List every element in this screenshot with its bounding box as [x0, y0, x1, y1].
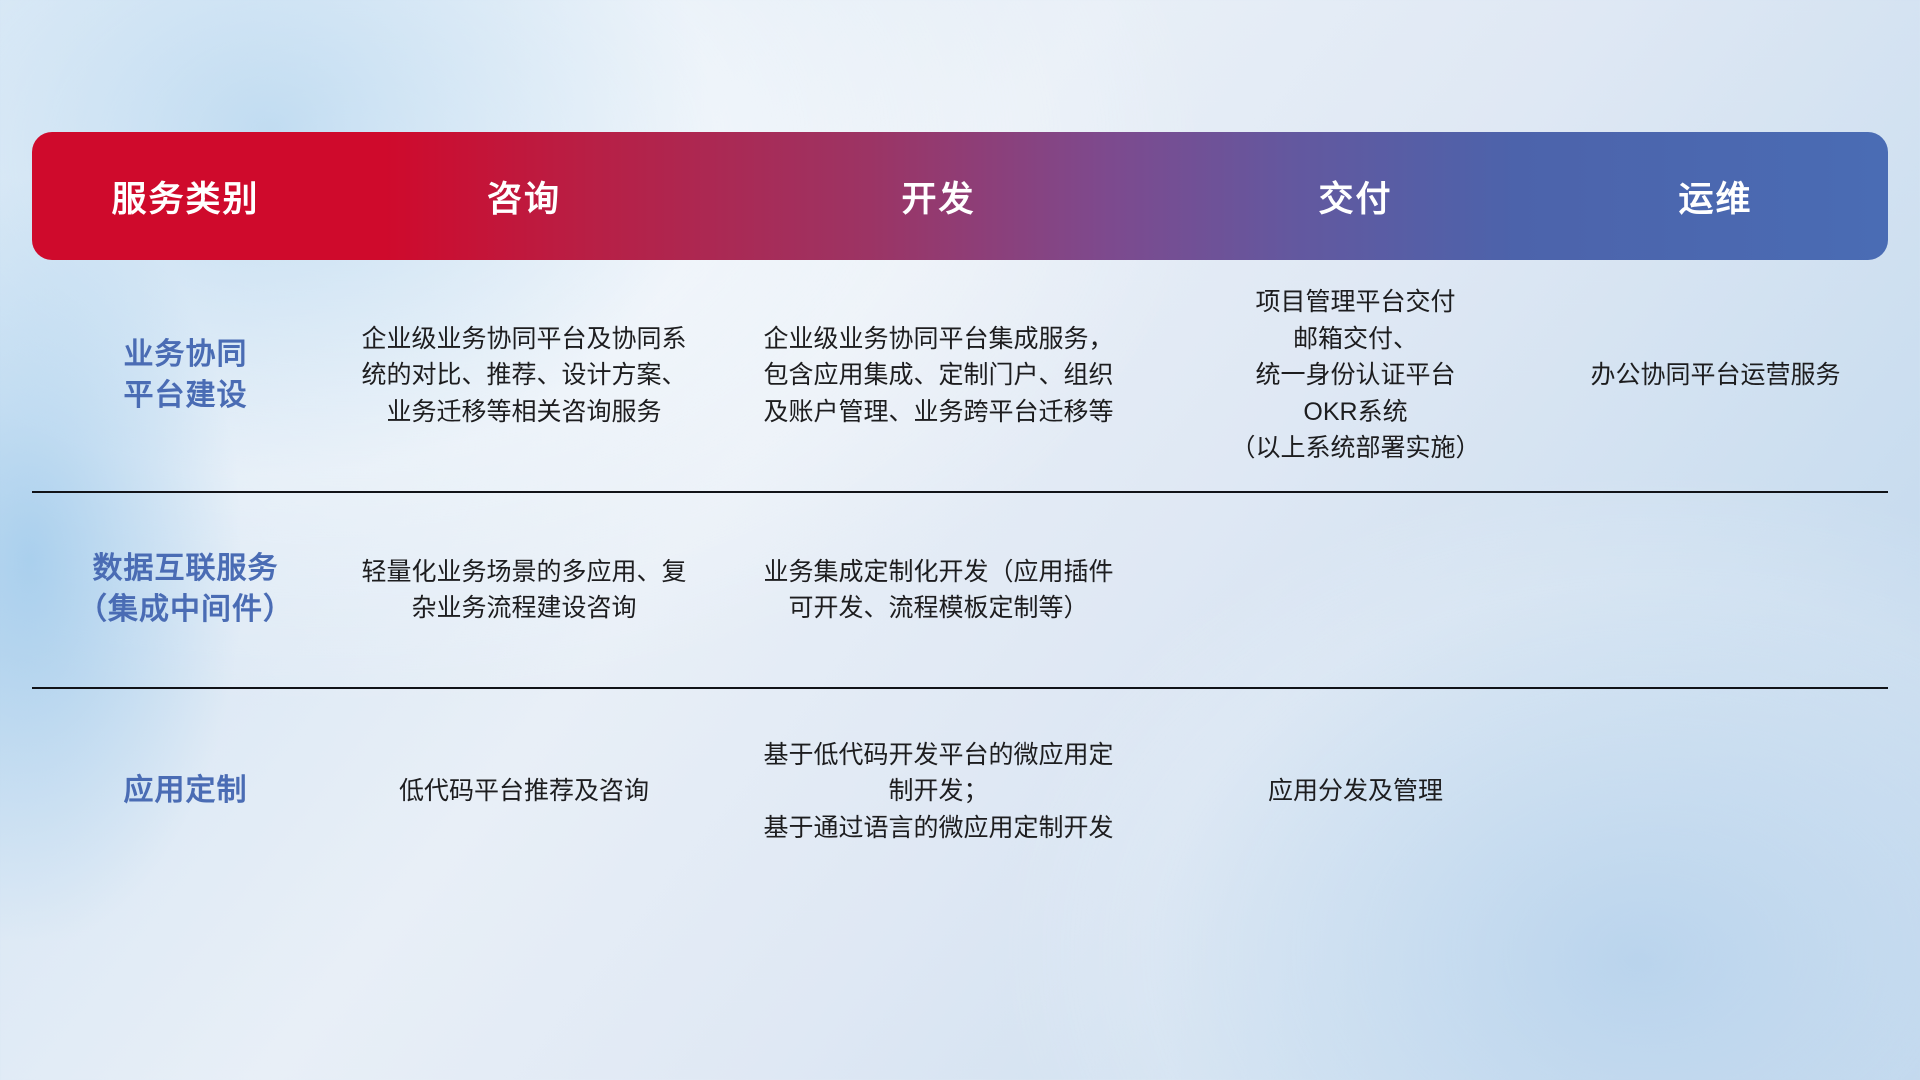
table-header-row: 服务类别 咨询 开发 交付 运维 [32, 132, 1888, 260]
column-header-development-label: 开发 [901, 180, 975, 219]
table-row: 应用定制 低代码平台推荐及咨询 基于低代码开发平台的微应用定 制开发； 基于通过… [32, 688, 1888, 894]
row-3-operations-cell [1543, 688, 1888, 894]
row-2-consulting-text: 轻量化业务场景的多应用、复 杂业务流程建设咨询 [339, 536, 709, 645]
table-body: 业务协同 平台建设 企业级业务协同平台及协同系 统的对比、推荐、设计方案、 业务… [32, 260, 1888, 894]
row-1-operations-cell: 办公协同平台运营服务 [1543, 260, 1888, 492]
column-header-operations-label: 运维 [1678, 180, 1752, 219]
column-header-delivery-label: 交付 [1318, 180, 1392, 219]
row-1-category-cell: 业务协同 平台建设 [32, 260, 339, 492]
service-matrix-table: 服务类别 咨询 开发 交付 运维 [32, 132, 1888, 894]
service-matrix-table-wrapper: 服务类别 咨询 开发 交付 运维 [32, 132, 1888, 894]
row-3-development-cell: 基于低代码开发平台的微应用定 制开发； 基于通过语言的微应用定制开发 [709, 688, 1168, 894]
table-header: 服务类别 咨询 开发 交付 运维 [32, 132, 1888, 260]
column-header-operations[interactable]: 运维 [1543, 132, 1888, 260]
row-1-development-cell: 企业级业务协同平台集成服务， 包含应用集成、定制门户、组织 及账户管理、业务跨平… [709, 260, 1168, 492]
row-1-consulting-text: 企业级业务协同平台及协同系 统的对比、推荐、设计方案、 业务迁移等相关咨询服务 [339, 303, 709, 449]
row-2-operations-text [1543, 572, 1888, 608]
row-2-development-cell: 业务集成定制化开发（应用插件 可开发、流程模板定制等） [709, 492, 1168, 688]
row-2-category-cell: 数据互联服务 （集成中间件） [32, 492, 339, 688]
table-row: 数据互联服务 （集成中间件） 轻量化业务场景的多应用、复 杂业务流程建设咨询 业… [32, 492, 1888, 688]
column-header-consulting-label: 咨询 [487, 180, 561, 219]
row-1-delivery-text: 项目管理平台交付 邮箱交付、 统一身份认证平台 OKR系统 （以上系统部署实施） [1168, 266, 1543, 485]
column-header-category[interactable]: 服务类别 [32, 132, 339, 260]
row-1-delivery-cell: 项目管理平台交付 邮箱交付、 统一身份认证平台 OKR系统 （以上系统部署实施） [1168, 260, 1543, 492]
column-header-consulting[interactable]: 咨询 [339, 132, 709, 260]
row-3-delivery-text: 应用分发及管理 [1168, 755, 1543, 828]
row-3-category-cell: 应用定制 [32, 688, 339, 894]
row-2-development-text: 业务集成定制化开发（应用插件 可开发、流程模板定制等） [709, 536, 1168, 645]
row-3-delivery-cell: 应用分发及管理 [1168, 688, 1543, 894]
row-1-operations-text: 办公协同平台运营服务 [1543, 339, 1888, 412]
row-1-consulting-cell: 企业级业务协同平台及协同系 统的对比、推荐、设计方案、 业务迁移等相关咨询服务 [339, 260, 709, 492]
row-3-operations-text [1543, 774, 1888, 810]
column-header-development[interactable]: 开发 [709, 132, 1168, 260]
row-3-development-text: 基于低代码开发平台的微应用定 制开发； 基于通过语言的微应用定制开发 [709, 719, 1168, 865]
row-2-delivery-cell [1168, 492, 1543, 688]
row-2-delivery-text [1168, 572, 1543, 608]
row-3-category-label: 应用定制 [32, 753, 339, 830]
row-1-development-text: 企业级业务协同平台集成服务， 包含应用集成、定制门户、组织 及账户管理、业务跨平… [709, 303, 1168, 449]
row-2-category-label: 数据互联服务 （集成中间件） [32, 531, 339, 649]
row-3-consulting-text: 低代码平台推荐及咨询 [339, 755, 709, 828]
table-row: 业务协同 平台建设 企业级业务协同平台及协同系 统的对比、推荐、设计方案、 业务… [32, 260, 1888, 492]
column-header-delivery[interactable]: 交付 [1168, 132, 1543, 260]
row-2-consulting-cell: 轻量化业务场景的多应用、复 杂业务流程建设咨询 [339, 492, 709, 688]
column-header-category-label: 服务类别 [111, 180, 259, 219]
slide-canvas: 服务类别 咨询 开发 交付 运维 [0, 0, 1920, 1080]
row-1-category-label: 业务协同 平台建设 [32, 317, 339, 435]
row-3-consulting-cell: 低代码平台推荐及咨询 [339, 688, 709, 894]
row-2-operations-cell [1543, 492, 1888, 688]
